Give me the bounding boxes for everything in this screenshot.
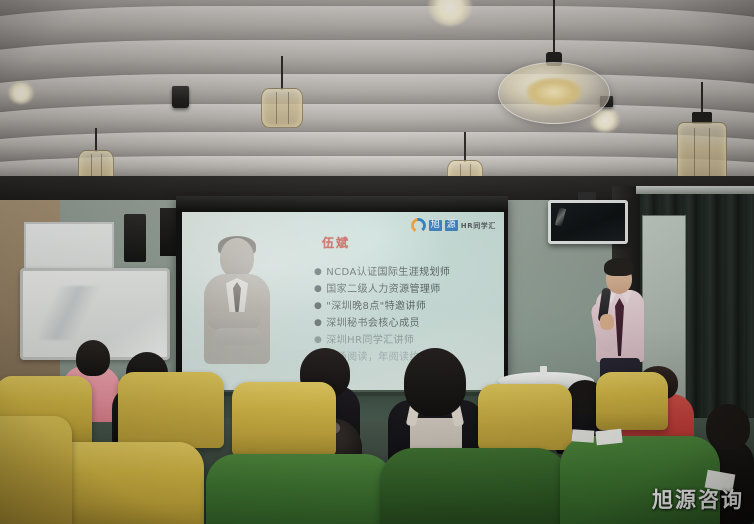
wall-panel-upper [24,222,114,270]
table-item [540,366,547,375]
recessed-light-icon [8,82,34,104]
brand-arc-icon [411,218,426,233]
chair[interactable] [232,382,336,456]
spot-downlight-icon [172,86,189,108]
slide-title: 伍斌 [322,234,350,251]
logo-block-1: 旭 [429,220,442,231]
slide-bullet: ● NCDA认证国际生涯规划师 [314,264,494,281]
chair[interactable] [596,372,668,430]
pendant-lamp-icon [494,0,614,124]
ceiling [0,0,754,196]
logo-wordmark: HR同学汇 [461,221,496,231]
bullet-dot-icon: ● [314,281,322,298]
pendant-lamp-icon [254,56,310,132]
chair[interactable] [118,372,224,448]
paper-sheet [595,429,622,446]
logo-block-2: 源 [445,220,458,231]
curtain-rail [636,186,754,194]
watermark: 旭源咨询 [652,484,744,514]
bullet-dot-icon: ● [314,264,322,281]
slide-bullet: ● 国家二级人力资源管理师 [314,281,494,298]
wall-display [548,200,628,244]
paper-sheet [572,429,595,443]
seminar-room-photo: 旭 源 HR同学汇 伍斌 ● NCDA认证国际生涯规划师 ● 国家二级人力资源管… [0,0,754,524]
chair[interactable] [478,384,572,450]
projection-screen-roller [176,196,508,212]
wall-speaker [124,214,146,262]
chair[interactable] [380,448,570,524]
chair[interactable] [206,454,394,524]
slide-bullet-text: NCDA认证国际生涯规划师 [326,264,450,281]
slide-logo: 旭 源 HR同学汇 [411,218,496,233]
slide-bullet-text: 国家二级人力资源管理师 [326,281,440,298]
chair-arm[interactable] [0,416,72,524]
